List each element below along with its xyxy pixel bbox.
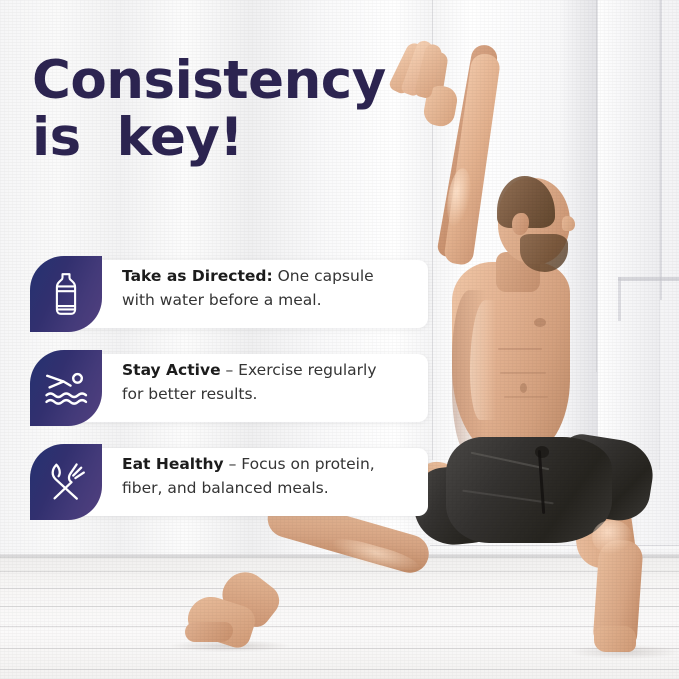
beard (520, 234, 568, 272)
headline: Consistency is key! (32, 52, 432, 166)
feature-title: Eat Healthy (122, 455, 224, 473)
feature-icon-badge (30, 444, 102, 520)
chest-detail (534, 318, 546, 327)
nose (562, 216, 575, 231)
feature-title: Take as Directed: (122, 267, 273, 285)
feature-text: Stay Active – Exercise regularly for bet… (102, 350, 402, 426)
knee-highlight (592, 520, 632, 554)
infographic-banner: Consistency is key! Take as Direc (0, 0, 679, 679)
feature-item-eat-healthy: Eat Healthy – Focus on protein, fiber, a… (30, 444, 420, 520)
swimmer-icon (44, 369, 88, 407)
feature-list: Take as Directed: One capsule with water… (30, 256, 420, 538)
headline-line-2: is key! (32, 109, 432, 166)
feature-icon-badge (30, 256, 102, 332)
feature-item-take-as-directed: Take as Directed: One capsule with water… (30, 256, 420, 332)
abdomen-line (500, 372, 546, 374)
abdomen-line (504, 396, 548, 398)
feature-icon-badge (30, 350, 102, 426)
back-toes (185, 622, 233, 642)
headline-line-1: Consistency (32, 52, 432, 109)
feature-text: Eat Healthy – Focus on protein, fiber, a… (102, 444, 402, 520)
feature-item-stay-active: Stay Active – Exercise regularly for bet… (30, 350, 420, 426)
abdomen-line (498, 348, 542, 350)
arm-near (443, 52, 501, 266)
water-bottle-icon (51, 272, 81, 316)
fork-and-knife-icon (45, 461, 87, 503)
navel (520, 383, 527, 393)
front-foot (594, 626, 636, 652)
feature-text: Take as Directed: One capsule with water… (102, 256, 402, 332)
feature-title: Stay Active (122, 361, 221, 379)
